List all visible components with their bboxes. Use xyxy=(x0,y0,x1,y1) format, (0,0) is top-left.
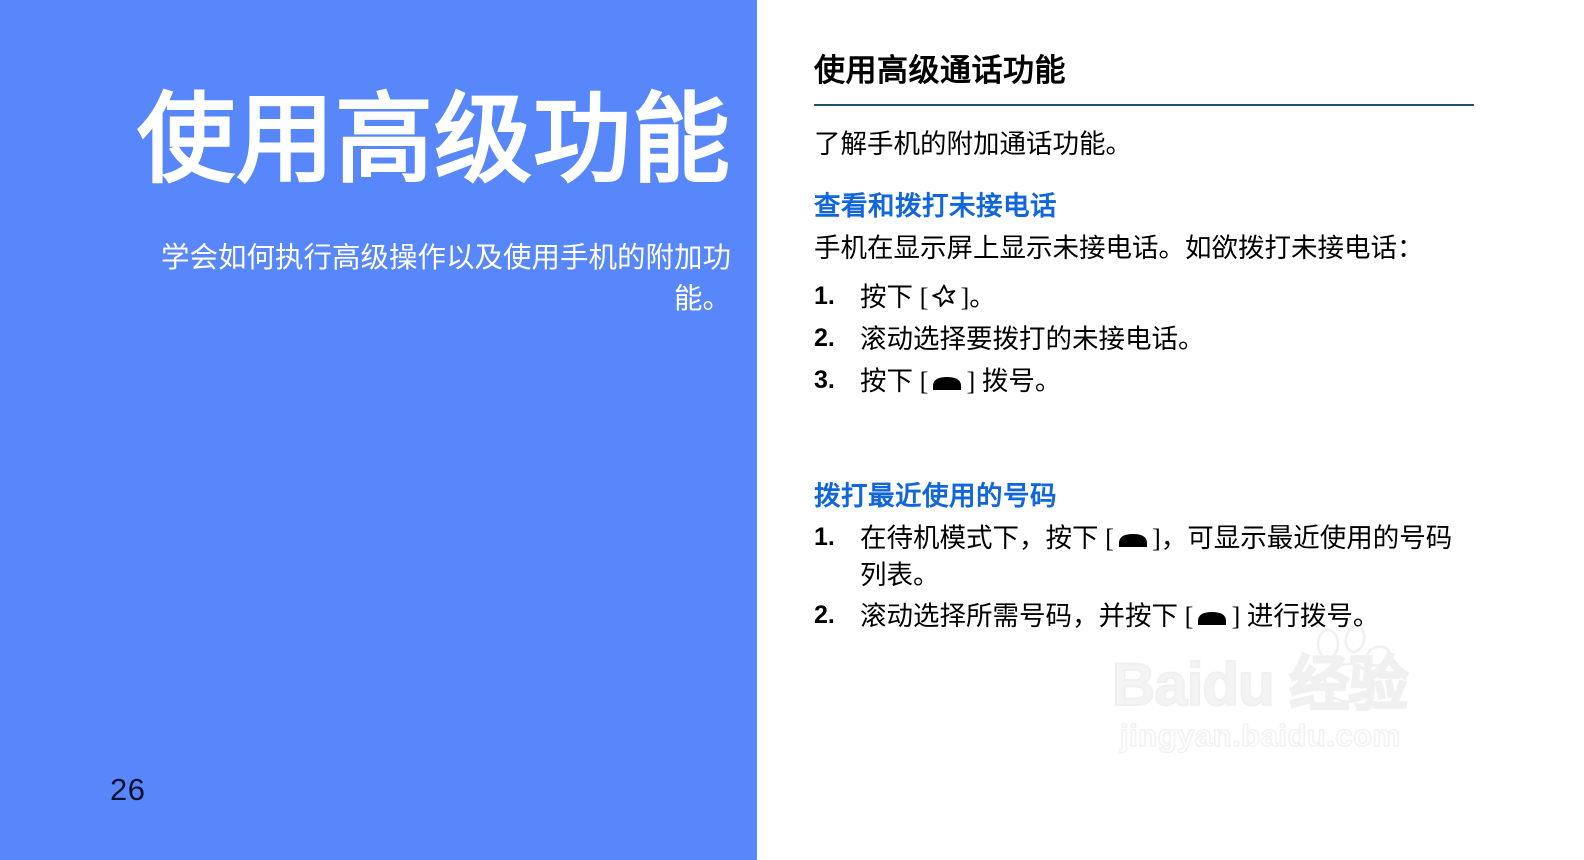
star-key-icon xyxy=(931,282,957,308)
section-heading: 使用高级通话功能 xyxy=(814,52,1066,89)
list-item: 3.按下 [] 拨号。 xyxy=(814,363,1474,400)
steps-list: 1.在待机模式下，按下 []，可显示最近使用的号码列表。 2.滚动选择所需号码，… xyxy=(814,520,1474,635)
chapter-cover-panel: 使用高级功能 学会如何执行高级操作以及使用手机的附加功能。 26 xyxy=(0,0,757,860)
step-text-after: ] 进行拨号。 xyxy=(1231,601,1379,631)
step-number: 3. xyxy=(814,363,852,398)
section-intro-text: 了解手机的附加通话功能。 xyxy=(814,126,1132,163)
step-number: 1. xyxy=(814,520,852,555)
step-text-before: 滚动选择要拨打的未接电话。 xyxy=(860,324,1205,354)
manual-page: 使用高级功能 学会如何执行高级操作以及使用手机的附加功能。 26 使用高级通话功… xyxy=(0,0,1584,860)
list-item: 2.滚动选择所需号码，并按下 [] 进行拨号。 xyxy=(814,598,1474,635)
content-column: 使用高级通话功能 了解手机的附加通话功能。 查看和拨打未接电话 手机在显示屏上显… xyxy=(814,0,1474,860)
call-key-icon xyxy=(931,366,963,386)
chapter-subtitle: 学会如何执行高级操作以及使用手机的附加功能。 xyxy=(135,238,731,321)
call-key-icon xyxy=(1196,601,1228,621)
steps-list: 1.按下 []。 2.滚动选择要拨打的未接电话。 3.按下 [] 拨号。 xyxy=(814,279,1474,399)
call-key-icon xyxy=(1117,523,1149,543)
page-number: 26 xyxy=(110,772,145,808)
step-number: 1. xyxy=(814,279,852,314)
step-text-after: ] 拨号。 xyxy=(966,366,1061,396)
subsection-missed-calls: 查看和拨打未接电话 手机在显示屏上显示未接电话。如欲拨打未接电话： 1.按下 [… xyxy=(814,190,1474,404)
step-text-before: 在待机模式下，按下 [ xyxy=(860,523,1114,553)
list-item: 2.滚动选择要拨打的未接电话。 xyxy=(814,321,1474,358)
chapter-title: 使用高级功能 xyxy=(40,88,731,192)
heading-divider xyxy=(814,104,1474,106)
subsection-recent-numbers: 拨打最近使用的号码 1.在待机模式下，按下 []，可显示最近使用的号码列表。 2… xyxy=(814,480,1474,640)
step-number: 2. xyxy=(814,598,852,633)
subsection-heading: 拨打最近使用的号码 xyxy=(814,480,1474,513)
step-number: 2. xyxy=(814,321,852,356)
list-item: 1.在待机模式下，按下 []，可显示最近使用的号码列表。 xyxy=(814,520,1474,593)
subsection-heading: 查看和拨打未接电话 xyxy=(814,190,1474,223)
step-text-before: 滚动选择所需号码，并按下 [ xyxy=(860,601,1193,631)
step-text-after: ]。 xyxy=(960,282,995,312)
list-item: 1.按下 []。 xyxy=(814,279,1474,316)
step-text-before: 按下 [ xyxy=(860,282,928,312)
step-text-before: 按下 [ xyxy=(860,366,928,396)
subsection-paragraph: 手机在显示屏上显示未接电话。如欲拨打未接电话： xyxy=(814,230,1474,266)
